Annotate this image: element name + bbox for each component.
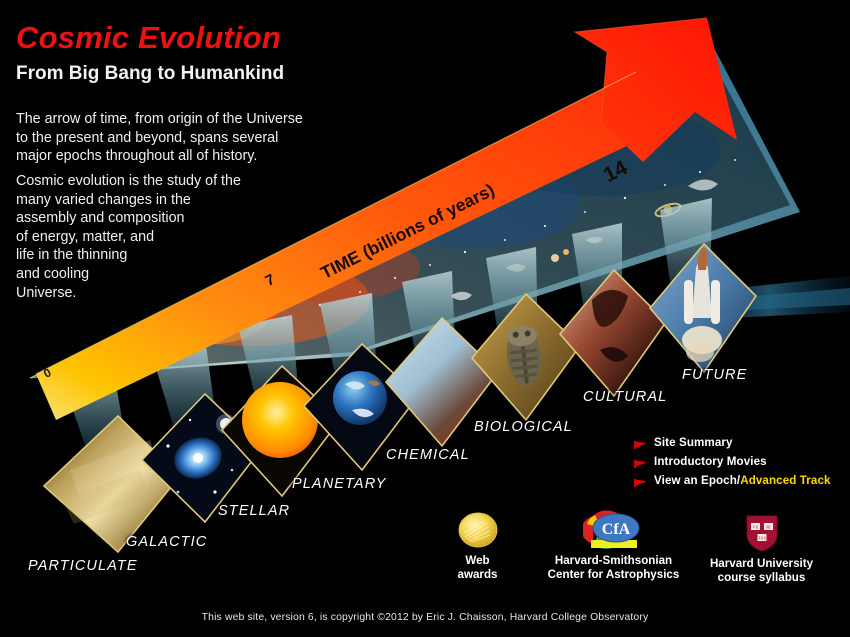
red-flag-icon xyxy=(634,456,648,466)
red-flag-icon xyxy=(634,475,648,485)
red-flag-icon xyxy=(634,437,648,447)
logo-caption: Web awards xyxy=(425,554,530,582)
nav-links: Site Summary Introductory Movies View an… xyxy=(634,434,831,491)
copyright-footer: This web site, version 6, is copyright ©… xyxy=(0,612,850,623)
intro-paragraph-1: The arrow of time, from origin of the Un… xyxy=(16,110,303,166)
link-label-highlight: Advanced Track xyxy=(740,474,830,487)
link-label: View an Epoch/Advanced Track xyxy=(654,474,831,487)
link-site-summary[interactable]: Site Summary xyxy=(634,434,831,450)
epoch-label-future: FUTURE xyxy=(682,367,747,383)
cfa-logo-icon: CfA xyxy=(521,509,706,551)
page-title: Cosmic Evolution xyxy=(16,22,281,53)
harvard-shield-icon: VE RI TAS xyxy=(700,512,823,554)
epoch-label-cultural: CULTURAL xyxy=(583,389,667,405)
logo-caption: Harvard-Smithsonian Center for Astrophys… xyxy=(521,554,706,582)
link-introductory-movies[interactable]: Introductory Movies xyxy=(634,453,831,469)
link-label-main: View an Epoch/ xyxy=(654,474,740,487)
logo-cfa[interactable]: CfA Harvard-Smithsonian Center for Astro… xyxy=(521,509,706,582)
epoch-label-stellar: STELLAR xyxy=(218,503,290,519)
page-subtitle: From Big Bang to Humankind xyxy=(16,64,284,83)
svg-text:TAS: TAS xyxy=(757,535,766,540)
epoch-label-biological: BIOLOGICAL xyxy=(474,419,573,435)
link-view-an-epoch[interactable]: View an Epoch/Advanced Track xyxy=(634,472,831,488)
link-label: Site Summary xyxy=(654,436,733,449)
epoch-label-particulate: PARTICULATE xyxy=(28,558,138,574)
svg-text:CfA: CfA xyxy=(601,521,630,538)
gold-medal-icon xyxy=(425,509,530,551)
logo-web-awards[interactable]: Web awards xyxy=(425,509,530,582)
svg-text:RI: RI xyxy=(766,524,771,529)
svg-text:VE: VE xyxy=(752,524,758,529)
link-label: Introductory Movies xyxy=(654,455,767,468)
logo-harvard[interactable]: VE RI TAS Harvard University course syll… xyxy=(700,512,823,585)
epoch-label-galactic: GALACTIC xyxy=(126,534,207,550)
epoch-label-chemical: CHEMICAL xyxy=(386,447,470,463)
logo-caption: Harvard University course syllabus xyxy=(700,557,823,585)
cosmic-evolution-page: Cosmic Evolution From Big Bang to Humank… xyxy=(0,0,850,637)
epoch-label-planetary: PLANETARY xyxy=(292,476,387,492)
intro-paragraph-2: Cosmic evolution is the study of the man… xyxy=(16,172,241,302)
